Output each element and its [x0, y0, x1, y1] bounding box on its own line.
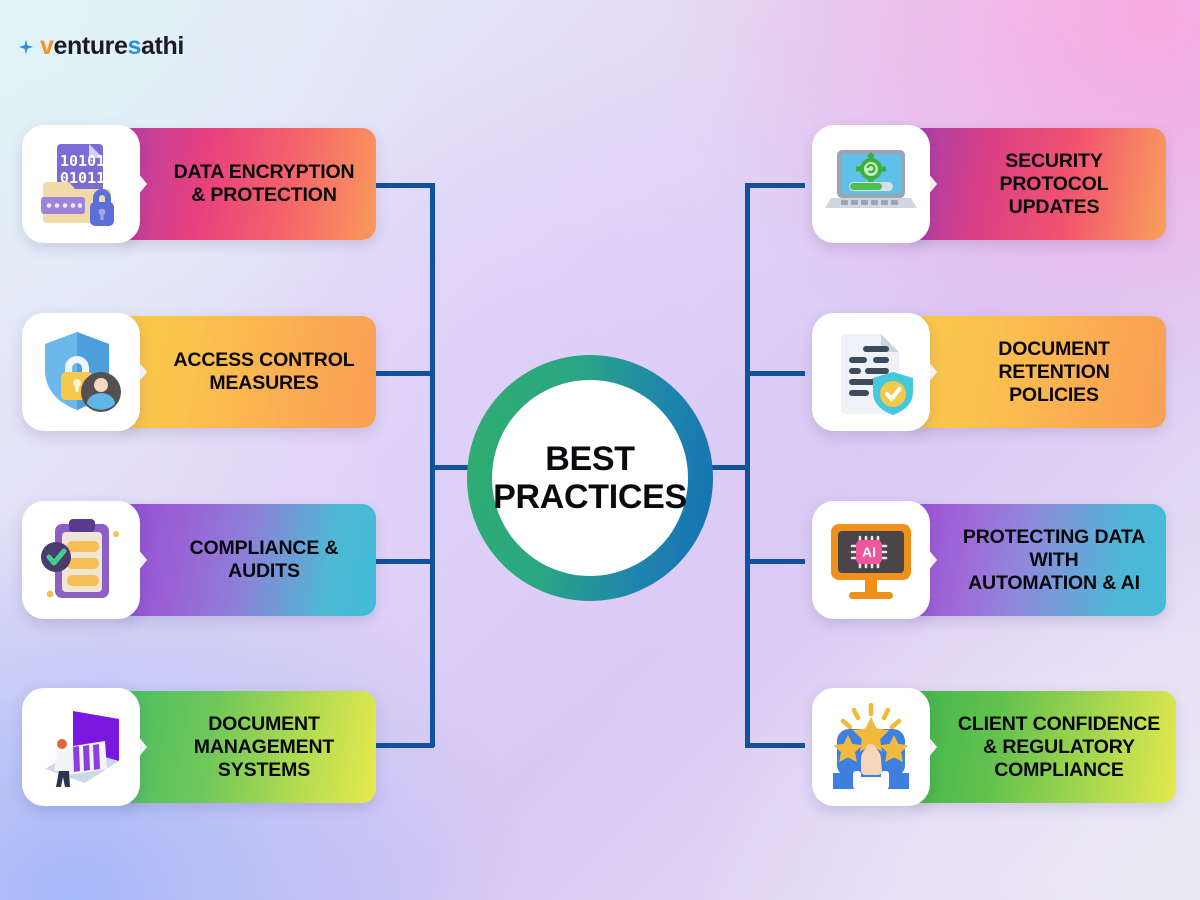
- brand-logo: venturesathi: [18, 34, 184, 59]
- card-banner: PROTECTING DATA WITH AUTOMATION & AI: [908, 504, 1166, 616]
- connector-right-branch-3: [745, 559, 805, 564]
- connector-left-branch-3: [376, 559, 434, 564]
- brand-text-athi: athi: [141, 32, 184, 60]
- card-label: SECURITY PROTOCOL UPDATES: [986, 150, 1123, 219]
- infographic-canvas: venturesathi BEST PRACTICES 10101 01011: [0, 0, 1200, 900]
- card-banner: DOCUMENT MANAGEMENT SYSTEMS: [118, 691, 376, 803]
- card-security-protocol-updates[interactable]: SECURITY PROTOCOL UPDATES: [812, 120, 1166, 248]
- card-banner: DATA ENCRYPTION & PROTECTION: [118, 128, 376, 240]
- card-label: PROTECTING DATA WITH AUTOMATION & AI: [949, 526, 1159, 595]
- card-protecting-data-ai[interactable]: AI PROTECTING DATA WITH AUTOMATION & AI: [812, 496, 1166, 624]
- monitor-ai-chip-icon: AI: [812, 501, 930, 619]
- card-client-confidence[interactable]: CLIENT CONFIDENCE & REGULATORY COMPLIANC…: [812, 683, 1176, 811]
- connector-right-branch-2: [745, 371, 805, 376]
- card-label: COMPLIANCE & AUDITS: [176, 537, 353, 583]
- connector-right-branch-4: [745, 743, 805, 748]
- card-banner: DOCUMENT RETENTION POLICIES: [908, 316, 1166, 428]
- connector-left-branch-2: [376, 371, 434, 376]
- file-cabinet-person-icon: [22, 688, 140, 806]
- center-hub-title: BEST PRACTICES: [492, 440, 688, 516]
- card-banner: COMPLIANCE & AUDITS: [118, 504, 376, 616]
- connector-left-branch-4: [376, 743, 434, 748]
- card-banner: ACCESS CONTROL MEASURES: [118, 316, 376, 428]
- card-banner: SECURITY PROTOCOL UPDATES: [908, 128, 1166, 240]
- document-shield-check-icon: [812, 313, 930, 431]
- svg-text:AI: AI: [862, 544, 876, 560]
- laptop-update-gear-icon: [812, 125, 930, 243]
- connector-left-branch-1: [376, 183, 434, 188]
- thumbs-up-stars-icon: [812, 688, 930, 806]
- center-hub: BEST PRACTICES: [467, 355, 713, 601]
- card-data-encryption[interactable]: 10101 01011 DATA ENCRYPTION & PROTECTION: [22, 120, 376, 248]
- brand-letter-s: s: [128, 32, 142, 60]
- card-access-control[interactable]: ACCESS CONTROL MEASURES: [22, 308, 376, 436]
- connector-right-branch-1: [745, 183, 805, 188]
- brand-wordmark: venturesathi: [40, 34, 184, 59]
- card-document-management[interactable]: DOCUMENT MANAGEMENT SYSTEMS: [22, 683, 376, 811]
- shield-lock-user-icon: [22, 313, 140, 431]
- card-label: DOCUMENT MANAGEMENT SYSTEMS: [180, 713, 348, 782]
- card-banner: CLIENT CONFIDENCE & REGULATORY COMPLIANC…: [908, 691, 1176, 803]
- card-label: DOCUMENT RETENTION POLICIES: [984, 338, 1123, 407]
- card-compliance-audits[interactable]: COMPLIANCE & AUDITS: [22, 496, 376, 624]
- center-hub-inner: BEST PRACTICES: [492, 380, 688, 576]
- card-document-retention[interactable]: DOCUMENT RETENTION POLICIES: [812, 308, 1166, 436]
- svg-text:10101: 10101: [60, 152, 105, 170]
- card-label: ACCESS CONTROL MEASURES: [160, 349, 369, 395]
- card-label: DATA ENCRYPTION & PROTECTION: [160, 161, 369, 207]
- brand-text-enture: enture: [54, 32, 128, 60]
- card-label: CLIENT CONFIDENCE & REGULATORY COMPLIANC…: [944, 713, 1174, 782]
- binary-document-lock-icon: 10101 01011: [22, 125, 140, 243]
- brand-letter-v: v: [40, 32, 54, 60]
- clipboard-check-icon: [22, 501, 140, 619]
- sparkle-icon: [18, 39, 34, 55]
